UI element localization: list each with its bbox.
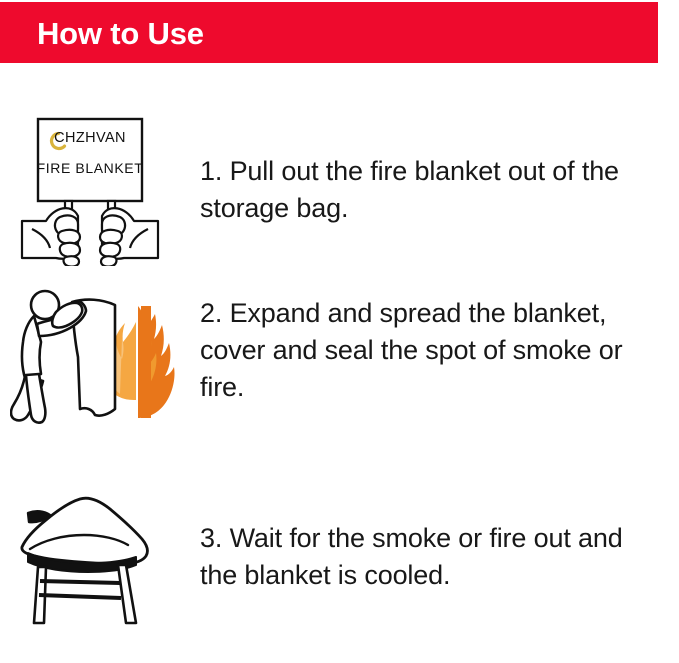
step-2-text: 2. Expand and spread the blanket, cover … bbox=[200, 273, 679, 406]
step-1-illustration: CHZHVAN FIRE BLANKET bbox=[0, 63, 200, 291]
step-row: 2. Expand and spread the blanket, cover … bbox=[0, 273, 679, 473]
step-row: CHZHVAN FIRE BLANKET bbox=[0, 63, 679, 273]
step-1-text: 1. Pull out the fire blanket out of the … bbox=[200, 63, 679, 227]
bag-logo-text: CHZHVAN bbox=[54, 130, 126, 146]
header-banner: How to Use bbox=[0, 2, 658, 63]
person-spreading-blanket-over-fire-icon bbox=[10, 280, 190, 430]
steps-list: CHZHVAN FIRE BLANKET bbox=[0, 63, 679, 663]
step-3-illustration bbox=[0, 473, 200, 655]
blanket-covering-stool-icon bbox=[10, 485, 190, 627]
bag-label-text: FIRE BLANKET bbox=[37, 160, 144, 176]
fire-blanket-bag-icon: CHZHVAN FIRE BLANKET bbox=[10, 111, 190, 266]
page-title: How to Use bbox=[37, 15, 204, 53]
step-3-text: 3. Wait for the smoke or fire out and th… bbox=[200, 473, 679, 594]
step-row: 3. Wait for the smoke or fire out and th… bbox=[0, 473, 679, 663]
step-2-illustration bbox=[0, 273, 200, 460]
